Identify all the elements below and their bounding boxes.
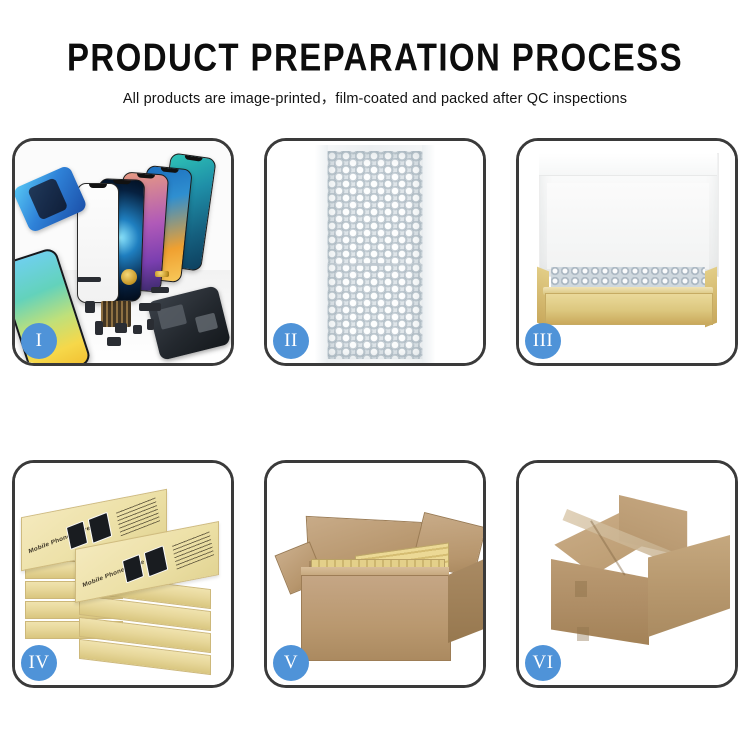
vibrator-part bbox=[115, 323, 127, 333]
gold-contact-part bbox=[155, 271, 169, 277]
bubble-wrap-bag bbox=[315, 145, 435, 363]
flex-cable-part bbox=[77, 277, 101, 282]
earpiece-part bbox=[107, 337, 121, 346]
step-panel-1[interactable]: I bbox=[12, 138, 234, 366]
carton-handle-tab bbox=[575, 581, 587, 597]
foam-padding bbox=[547, 183, 709, 269]
bubble-pattern bbox=[327, 151, 423, 359]
page-title: PRODUCT PREPARATION PROCESS bbox=[0, 34, 750, 81]
product-preparation-page: PRODUCT PREPARATION PROCESS All products… bbox=[0, 0, 750, 750]
step-badge-3: III bbox=[525, 323, 561, 359]
sim-tray-part bbox=[95, 321, 103, 335]
step-panel-2[interactable]: II bbox=[264, 138, 486, 366]
notch-icon bbox=[160, 167, 178, 173]
carton-handle-tab bbox=[577, 627, 589, 641]
carton-front-face bbox=[301, 575, 451, 661]
screw-part bbox=[133, 325, 142, 334]
bag-seam bbox=[327, 263, 423, 266]
bag-edge-right bbox=[422, 145, 435, 363]
step-badge-2: II bbox=[273, 323, 309, 359]
step-badge-1: I bbox=[21, 323, 57, 359]
step-panel-4[interactable]: Mobile Phone Spare Parts Mobile Phone Sp… bbox=[12, 460, 234, 688]
box-spec-lines bbox=[116, 497, 160, 537]
page-subtitle: All products are image-printed，film-coat… bbox=[0, 87, 750, 108]
carton-front-face bbox=[551, 559, 649, 645]
camera-flex-part bbox=[139, 303, 161, 311]
connector-part bbox=[147, 319, 154, 330]
box-screen-image bbox=[66, 521, 88, 551]
notch-icon bbox=[137, 174, 155, 179]
speaker-part bbox=[121, 269, 137, 285]
box-screen-image bbox=[88, 512, 113, 544]
step-badge-4: IV bbox=[21, 645, 57, 681]
bag-edge-left bbox=[315, 145, 328, 363]
box-lid-fold bbox=[539, 153, 717, 176]
notch-icon bbox=[89, 184, 107, 188]
step-panel-5[interactable]: V bbox=[264, 460, 486, 688]
bracket-part bbox=[85, 301, 95, 313]
process-steps-grid: I II bbox=[12, 138, 738, 688]
notch-icon bbox=[184, 155, 202, 161]
notch-icon bbox=[113, 180, 131, 185]
box-front-wall bbox=[545, 293, 713, 325]
page-header: PRODUCT PREPARATION PROCESS All products… bbox=[0, 34, 750, 108]
step-panel-6[interactable]: VI bbox=[516, 460, 738, 688]
box-screen-image bbox=[144, 545, 169, 577]
step-badge-5: V bbox=[273, 645, 309, 681]
step-panel-3[interactable]: III bbox=[516, 138, 738, 366]
button-flex-part bbox=[151, 287, 169, 293]
step-badge-6: VI bbox=[525, 645, 561, 681]
box-spec-lines bbox=[172, 531, 214, 570]
